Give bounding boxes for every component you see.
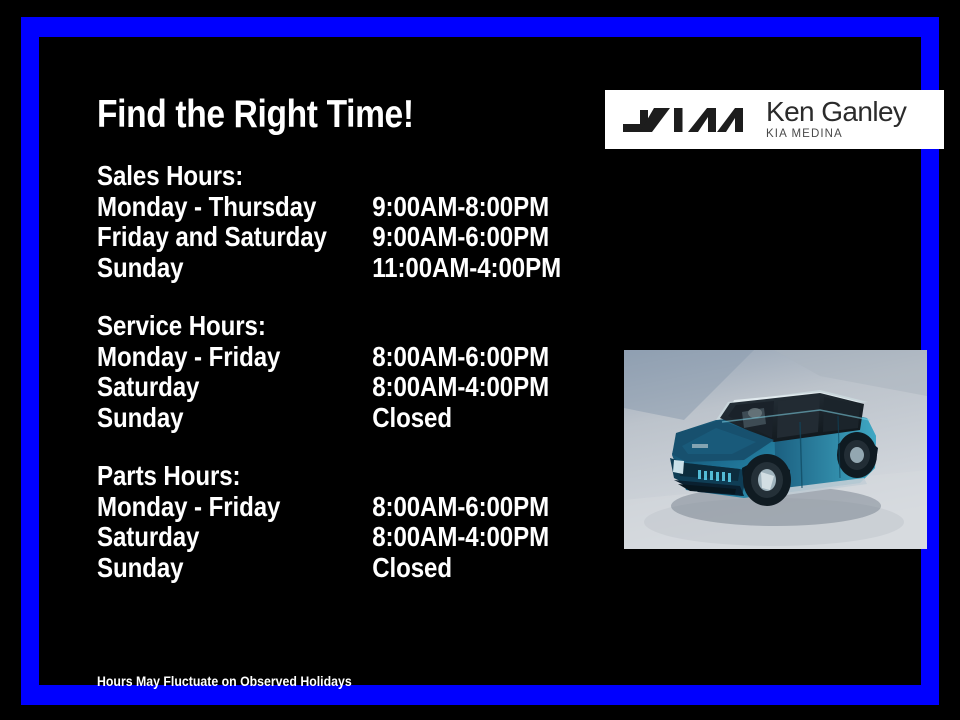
hours-row: Monday - Friday 8:00AM-6:00PM	[97, 492, 501, 523]
hours-heading: Sales Hours:	[97, 161, 501, 192]
dealer-subtitle: KIA MEDINA	[766, 129, 906, 141]
hours-list: Sales Hours: Monday - Thursday 9:00AM-8:…	[97, 161, 567, 583]
hours-day: Monday - Friday	[97, 342, 280, 373]
hours-heading: Service Hours:	[97, 311, 501, 342]
slide-content-area: Find the Right Time! Ken Ganley KIA ME	[39, 37, 921, 685]
hours-day: Saturday	[97, 522, 199, 553]
kia-logo-mark-icon	[622, 105, 744, 135]
hours-day: Sunday	[97, 553, 183, 584]
vehicle-photo	[624, 350, 927, 549]
page-title: Find the Right Time!	[97, 93, 414, 137]
slide-root: Find the Right Time! Ken Ganley KIA ME	[0, 0, 960, 720]
hours-time: 8:00AM-4:00PM	[372, 372, 549, 403]
hours-row: Sunday Closed	[97, 553, 501, 584]
dealer-name: Ken Ganley	[766, 98, 906, 126]
hours-row: Friday and Saturday 9:00AM-6:00PM	[97, 222, 501, 253]
hours-row: Monday - Thursday 9:00AM-8:00PM	[97, 192, 501, 223]
hours-time: 9:00AM-8:00PM	[372, 192, 549, 223]
hours-heading: Parts Hours:	[97, 461, 501, 492]
hours-row: Sunday Closed	[97, 403, 501, 434]
hours-day: Sunday	[97, 253, 183, 284]
hours-time: Closed	[372, 403, 452, 434]
holiday-footnote: Hours May Fluctuate on Observed Holidays	[97, 673, 352, 690]
hours-day: Saturday	[97, 372, 199, 403]
hours-block-service: Service Hours: Monday - Friday 8:00AM-6:…	[97, 311, 567, 433]
hours-day: Friday and Saturday	[97, 222, 327, 253]
hours-row: Saturday 8:00AM-4:00PM	[97, 372, 501, 403]
hours-block-sales: Sales Hours: Monday - Thursday 9:00AM-8:…	[97, 161, 567, 283]
hours-time: 9:00AM-6:00PM	[372, 222, 549, 253]
hours-time: 8:00AM-6:00PM	[372, 342, 549, 373]
hours-row: Monday - Friday 8:00AM-6:00PM	[97, 342, 501, 373]
hours-row: Sunday 11:00AM-4:00PM	[97, 253, 501, 284]
blue-border-frame: Find the Right Time! Ken Ganley KIA ME	[21, 17, 939, 705]
hours-time: 8:00AM-6:00PM	[372, 492, 549, 523]
hours-time: Closed	[372, 553, 452, 584]
hours-row: Saturday 8:00AM-4:00PM	[97, 522, 501, 553]
hours-day: Monday - Thursday	[97, 192, 316, 223]
hours-time: 11:00AM-4:00PM	[372, 253, 561, 284]
dealer-logo: Ken Ganley KIA MEDINA	[605, 90, 944, 149]
hours-day: Sunday	[97, 403, 183, 434]
hours-day: Monday - Friday	[97, 492, 280, 523]
dealer-logo-text: Ken Ganley KIA MEDINA	[766, 98, 906, 141]
hours-time: 8:00AM-4:00PM	[372, 522, 549, 553]
hours-block-parts: Parts Hours: Monday - Friday 8:00AM-6:00…	[97, 461, 567, 583]
